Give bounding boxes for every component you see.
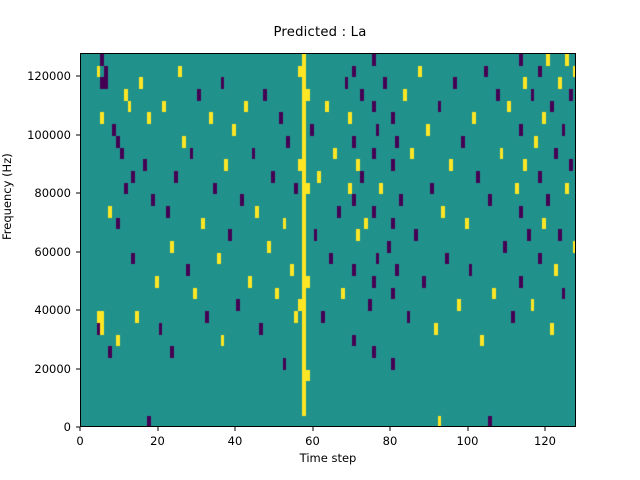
y-tick-mark: [76, 193, 80, 194]
y-tick-label: 20000: [0, 362, 71, 376]
heatmap-axes[interactable]: [80, 53, 576, 427]
y-tick-mark: [76, 368, 80, 369]
x-tick-mark: [467, 427, 468, 431]
y-tick-label: 120000: [0, 69, 71, 83]
x-tick-label: 100: [457, 434, 479, 448]
y-tick-mark: [76, 134, 80, 135]
x-tick-mark: [80, 427, 81, 431]
y-tick-label: 0: [0, 420, 71, 434]
x-tick-label: 0: [76, 434, 83, 448]
x-tick-mark: [312, 427, 313, 431]
x-tick-label: 60: [305, 434, 320, 448]
page-title: Predicted : La: [0, 25, 640, 40]
x-tick-label: 40: [228, 434, 243, 448]
x-tick-mark: [390, 427, 391, 431]
x-tick-label: 120: [534, 434, 556, 448]
x-tick-label: 80: [383, 434, 398, 448]
x-tick-mark: [157, 427, 158, 431]
y-tick-label: 60000: [0, 245, 71, 259]
x-axis-label: Time step: [80, 451, 576, 465]
x-tick-mark: [545, 427, 546, 431]
y-tick-label: 40000: [0, 303, 71, 317]
y-tick-mark: [76, 76, 80, 77]
heatmap-image: [81, 54, 576, 427]
figure-canvas: Predicted : La Frequency (Hz) Time step …: [0, 0, 640, 480]
y-tick-mark: [76, 310, 80, 311]
x-tick-mark: [235, 427, 236, 431]
y-tick-label: 100000: [0, 128, 71, 142]
y-tick-label: 80000: [0, 186, 71, 200]
y-tick-mark: [76, 251, 80, 252]
x-tick-label: 20: [150, 434, 165, 448]
